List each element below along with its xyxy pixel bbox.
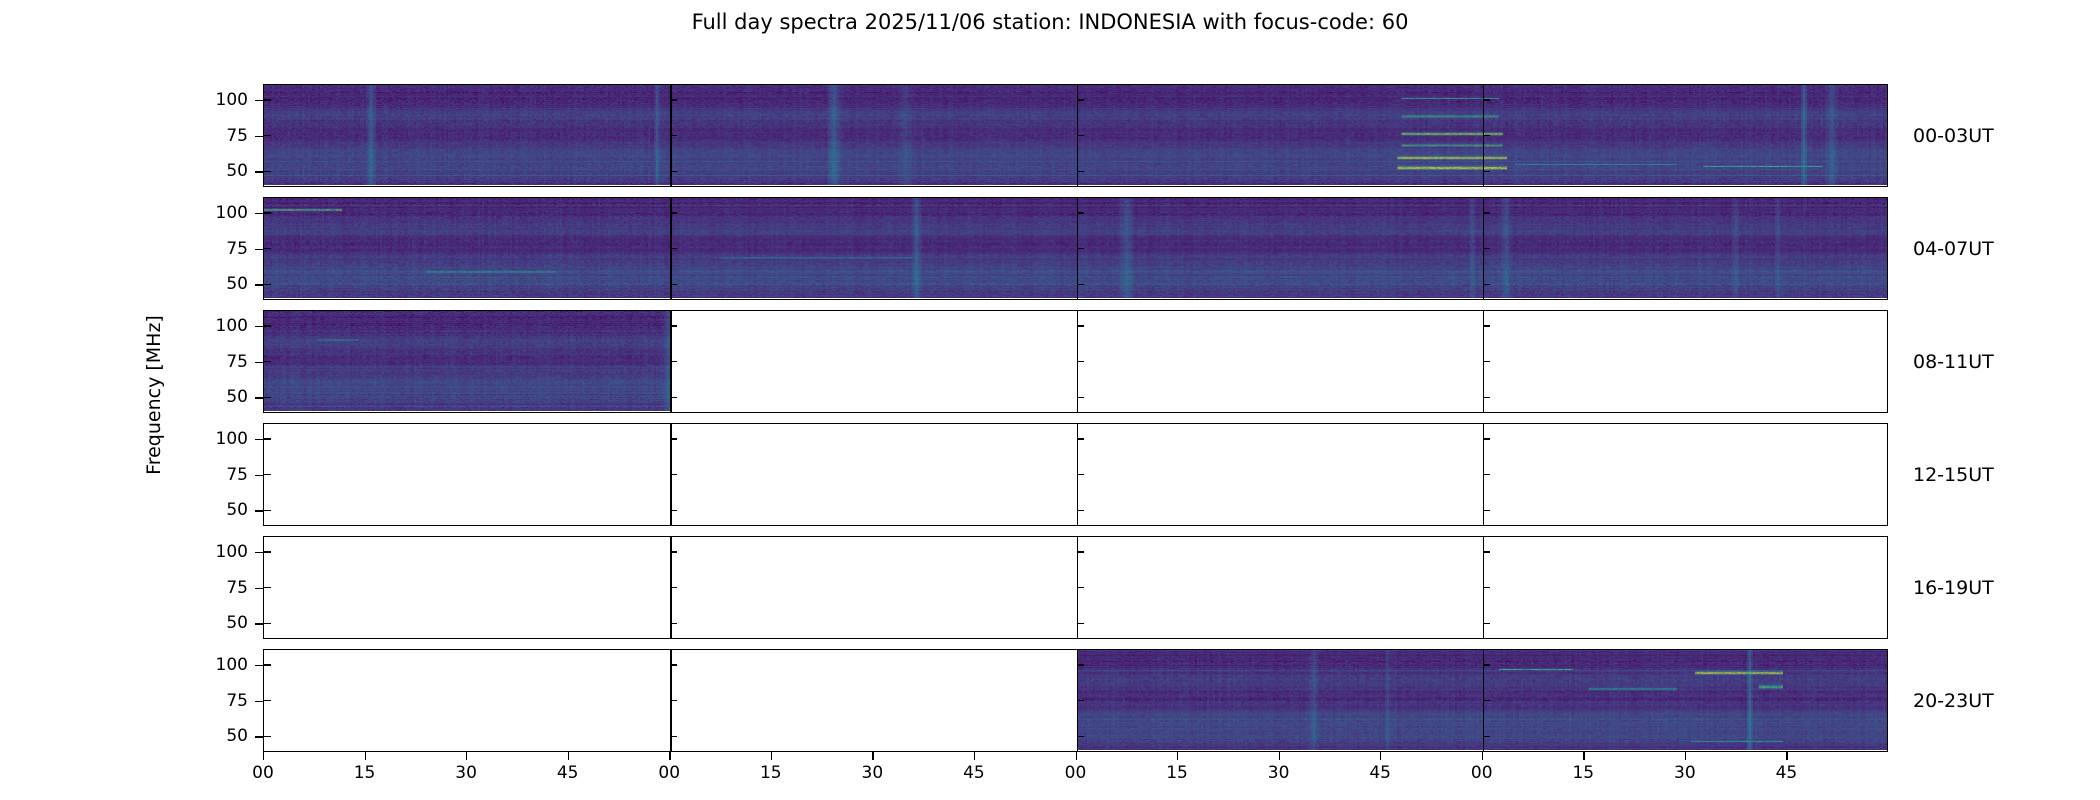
x-axis-tick-label: 30 <box>862 763 884 783</box>
spectrogram-row[interactable] <box>263 649 1888 752</box>
y-tick-mark <box>264 700 271 701</box>
y-tick-mark <box>670 551 677 552</box>
x-axis-tick <box>974 752 975 760</box>
y-tick-mark <box>264 135 271 136</box>
y-tick-mark <box>1077 664 1084 665</box>
y-axis-tick <box>255 284 263 285</box>
y-axis-tick <box>255 136 263 137</box>
y-axis-tick <box>255 100 263 101</box>
x-axis-tick <box>1685 752 1686 760</box>
spectrogram-row[interactable] <box>263 310 1888 413</box>
y-tick-mark <box>1077 587 1084 588</box>
x-axis-tick <box>771 752 772 760</box>
y-tick-mark <box>264 623 271 624</box>
y-tick-mark <box>1077 361 1084 362</box>
y-tick-mark <box>1077 284 1084 285</box>
y-tick-mark <box>1483 623 1490 624</box>
y-axis-tick-label: 100 <box>188 542 248 562</box>
y-tick-mark <box>1483 284 1490 285</box>
x-axis-tick-label: 45 <box>1369 763 1391 783</box>
y-axis-tick-label: 100 <box>188 429 248 449</box>
y-tick-mark <box>264 736 271 737</box>
y-tick-mark <box>1077 700 1084 701</box>
y-tick-mark <box>264 474 271 475</box>
y-tick-mark <box>670 171 677 172</box>
x-axis-tick-label: 45 <box>557 763 579 783</box>
spectrogram-figure: Full day spectra 2025/11/06 station: IND… <box>0 0 2100 800</box>
y-tick-mark <box>1483 171 1490 172</box>
y-axis-tick-label: 100 <box>188 655 248 675</box>
x-axis-tick <box>1380 752 1381 760</box>
x-axis-tick-label: 00 <box>658 763 680 783</box>
y-tick-mark <box>670 361 677 362</box>
y-axis-tick <box>255 552 263 553</box>
y-tick-mark <box>670 700 677 701</box>
y-tick-mark <box>1483 664 1490 665</box>
spectrogram-canvas <box>264 311 670 411</box>
y-tick-mark <box>264 587 271 588</box>
spectrogram-row[interactable] <box>263 423 1888 526</box>
row-time-label: 16-19UT <box>1913 577 1994 599</box>
x-axis-tick-label: 30 <box>1268 763 1290 783</box>
y-axis-tick <box>255 588 263 589</box>
x-axis-tick <box>466 752 467 760</box>
y-axis-tick-label: 50 <box>188 613 248 633</box>
x-axis-tick <box>1786 752 1787 760</box>
y-axis-tick-label: 75 <box>188 239 248 259</box>
x-axis-tick <box>1076 752 1077 760</box>
y-tick-mark <box>1483 438 1490 439</box>
y-tick-mark <box>1483 99 1490 100</box>
y-tick-mark <box>264 510 271 511</box>
y-tick-mark <box>264 212 271 213</box>
y-tick-mark <box>1077 438 1084 439</box>
y-tick-mark <box>264 284 271 285</box>
y-tick-mark <box>264 99 271 100</box>
x-axis-tick <box>1177 752 1178 760</box>
row-time-label: 12-15UT <box>1913 464 1994 486</box>
spectrogram-row[interactable] <box>263 536 1888 639</box>
y-tick-mark <box>264 664 271 665</box>
y-tick-mark <box>1077 248 1084 249</box>
y-axis-label: Frequency [MHz] <box>143 315 165 475</box>
y-tick-mark <box>1483 736 1490 737</box>
y-tick-mark <box>670 474 677 475</box>
x-axis-tick <box>872 752 873 760</box>
y-tick-mark <box>670 397 677 398</box>
y-tick-mark <box>1483 510 1490 511</box>
y-tick-mark <box>1077 135 1084 136</box>
x-axis-tick <box>1583 752 1584 760</box>
y-axis-tick <box>255 623 263 624</box>
y-tick-mark <box>264 171 271 172</box>
y-tick-mark <box>1077 474 1084 475</box>
x-axis-tick <box>1279 752 1280 760</box>
y-tick-mark <box>264 361 271 362</box>
spectrogram-row[interactable] <box>263 84 1888 187</box>
y-axis-tick <box>255 326 263 327</box>
y-axis-tick-label: 75 <box>188 691 248 711</box>
row-time-label: 04-07UT <box>1913 238 1994 260</box>
y-axis-tick <box>255 665 263 666</box>
y-tick-mark <box>670 325 677 326</box>
y-tick-mark <box>670 212 677 213</box>
y-axis-tick <box>255 171 263 172</box>
y-tick-mark <box>1483 474 1490 475</box>
row-time-label: 00-03UT <box>1913 125 1994 147</box>
y-tick-mark <box>1077 510 1084 511</box>
y-tick-mark <box>670 284 677 285</box>
y-axis-tick <box>255 736 263 737</box>
x-axis-tick <box>568 752 569 760</box>
y-axis-tick <box>255 510 263 511</box>
y-tick-mark <box>670 623 677 624</box>
y-axis-tick-label: 100 <box>188 203 248 223</box>
y-axis-tick-label: 50 <box>188 726 248 746</box>
y-tick-mark <box>264 397 271 398</box>
x-axis-tick-label: 00 <box>1471 763 1493 783</box>
y-tick-mark <box>1077 736 1084 737</box>
y-axis-tick-label: 50 <box>188 387 248 407</box>
y-tick-mark <box>1483 587 1490 588</box>
x-axis-tick <box>669 752 670 760</box>
y-tick-mark <box>1077 325 1084 326</box>
y-tick-mark <box>670 587 677 588</box>
y-axis-tick-label: 100 <box>188 90 248 110</box>
y-tick-mark <box>1077 551 1084 552</box>
y-tick-mark <box>1483 361 1490 362</box>
x-axis-tick-label: 45 <box>1776 763 1798 783</box>
y-tick-mark <box>264 248 271 249</box>
x-axis-tick-label: 15 <box>1572 763 1594 783</box>
y-tick-mark <box>670 664 677 665</box>
y-tick-mark <box>670 99 677 100</box>
spectrogram-row[interactable] <box>263 197 1888 300</box>
y-tick-mark <box>1077 397 1084 398</box>
y-tick-mark <box>670 510 677 511</box>
row-time-label: 08-11UT <box>1913 351 1994 373</box>
y-axis-tick-label: 75 <box>188 126 248 146</box>
y-tick-mark <box>1483 700 1490 701</box>
y-tick-mark <box>1483 551 1490 552</box>
x-axis-tick <box>1482 752 1483 760</box>
y-tick-mark <box>1483 325 1490 326</box>
y-tick-mark <box>670 438 677 439</box>
y-axis-tick-label: 75 <box>188 578 248 598</box>
y-tick-mark <box>264 325 271 326</box>
y-tick-mark <box>670 248 677 249</box>
x-axis-tick-label: 15 <box>1166 763 1188 783</box>
y-axis-tick <box>255 397 263 398</box>
y-tick-mark <box>264 551 271 552</box>
x-axis-tick-label: 45 <box>963 763 985 783</box>
y-axis-tick <box>255 249 263 250</box>
y-axis-tick <box>255 701 263 702</box>
y-axis-tick <box>255 213 263 214</box>
y-tick-mark <box>1077 212 1084 213</box>
y-axis-tick-label: 50 <box>188 500 248 520</box>
y-tick-mark <box>1483 135 1490 136</box>
y-tick-mark <box>670 135 677 136</box>
x-axis-tick-label: 00 <box>1065 763 1087 783</box>
x-axis-tick-label: 15 <box>354 763 376 783</box>
x-axis-tick-label: 30 <box>455 763 477 783</box>
y-tick-mark <box>1483 397 1490 398</box>
x-axis-tick <box>263 752 264 760</box>
y-axis-tick-label: 100 <box>188 316 248 336</box>
page-title: Full day spectra 2025/11/06 station: IND… <box>0 10 2100 34</box>
y-axis-tick <box>255 439 263 440</box>
y-tick-mark <box>670 736 677 737</box>
y-tick-mark <box>1077 171 1084 172</box>
x-axis-tick-label: 30 <box>1674 763 1696 783</box>
row-time-label: 20-23UT <box>1913 690 1994 712</box>
y-axis-tick <box>255 362 263 363</box>
y-axis-tick-label: 75 <box>188 352 248 372</box>
y-tick-mark <box>1077 99 1084 100</box>
x-axis-tick <box>365 752 366 760</box>
x-axis-tick-label: 00 <box>252 763 274 783</box>
x-axis-tick-label: 15 <box>760 763 782 783</box>
y-tick-mark <box>264 438 271 439</box>
y-tick-mark <box>1483 248 1490 249</box>
y-tick-mark <box>1077 623 1084 624</box>
y-tick-mark <box>1483 212 1490 213</box>
y-axis-tick-label: 50 <box>188 161 248 181</box>
y-axis-tick <box>255 475 263 476</box>
y-axis-tick-label: 75 <box>188 465 248 485</box>
y-axis-tick-label: 50 <box>188 274 248 294</box>
